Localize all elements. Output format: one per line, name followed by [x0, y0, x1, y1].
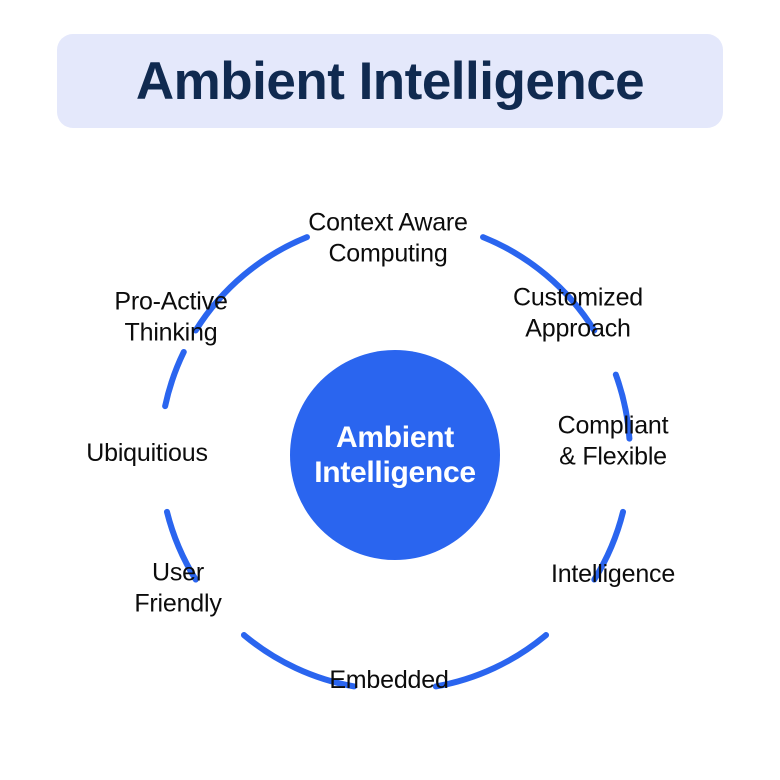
node-label-compliant-flexible: Compliant & Flexible [558, 411, 669, 472]
node-label-customized-approach: Customized Approach [513, 283, 643, 344]
node-label-context-aware-computing: Context Aware Computing [308, 208, 468, 269]
radial-diagram: Ambient Intelligence Context Aware Compu… [0, 0, 780, 780]
node-label-ubiquitious: Ubiquitious [86, 438, 207, 469]
arc-left-upper [165, 352, 184, 406]
center-hub: Ambient Intelligence [290, 350, 500, 560]
arc-bottom-right [436, 635, 546, 686]
node-label-intelligence: Intelligence [551, 559, 675, 590]
center-hub-label: Ambient Intelligence [314, 420, 475, 491]
diagram-canvas: Ambient Intelligence Ambient Intelligenc… [0, 0, 780, 780]
node-label-pro-active-thinking: Pro-Active Thinking [114, 287, 227, 348]
node-label-embedded: Embedded [329, 665, 448, 696]
node-label-user-friendly: User Friendly [134, 558, 221, 619]
